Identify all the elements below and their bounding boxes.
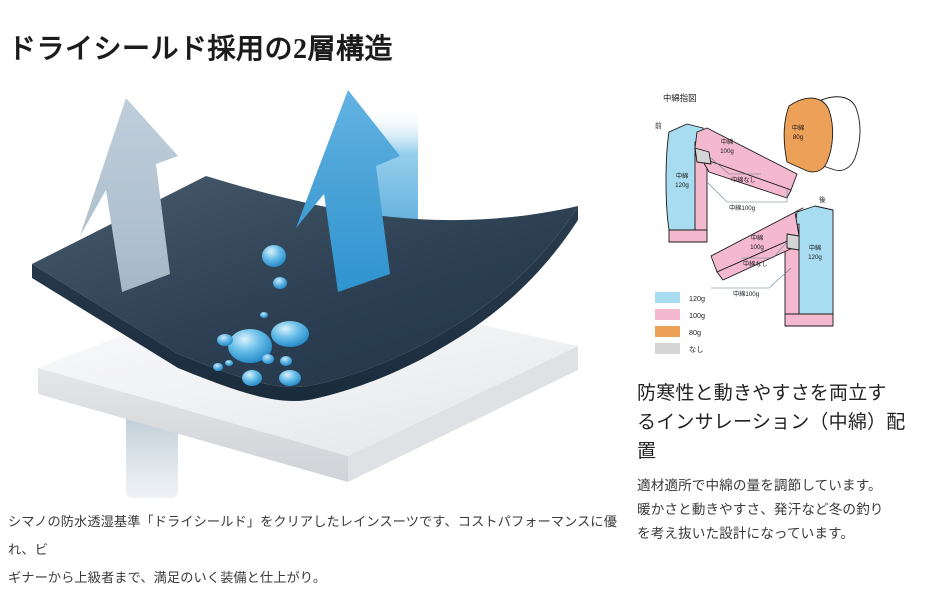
legend-swatch-0: [655, 292, 680, 303]
legend-swatch-2: [655, 326, 680, 337]
hood-label-line-2: 80g: [793, 134, 804, 141]
front-sleeve-label-line-2: 100g: [720, 148, 734, 155]
droplet-s5: [262, 354, 274, 364]
front-sleeve-label-line-1: 中綿: [721, 138, 733, 146]
right-body-line-3: を考え抜いた設計になっています。: [637, 522, 921, 546]
back-view-garment: 中綿 120g 中綿 100g 中綿なし 中綿100g: [711, 206, 833, 326]
back-body-label-line-2: 120g: [808, 254, 822, 261]
back-callout-100g: 中綿100g: [733, 290, 760, 298]
back-body-label-line-1: 中綿: [809, 244, 821, 252]
back-view-label: 後: [819, 195, 826, 204]
droplet-s1: [260, 312, 268, 318]
diagram-legend: 120g 100g 80g なし: [655, 292, 705, 354]
front-view-label: 前: [655, 121, 662, 130]
right-heading-line-2: るインサレーション（中綿）配: [637, 408, 921, 437]
back-sleeve-label-line-2: 100g: [750, 244, 764, 251]
diagram-title: 中綿指図: [663, 93, 697, 103]
right-body-line-1: 適材適所で中綿の量を調節しています。: [637, 474, 921, 498]
right-heading-line-1: 防寒性と動きやすさを両立す: [637, 379, 921, 408]
membrane-illustration: [18, 78, 618, 498]
legend-label-1: 100g: [689, 311, 705, 320]
droplet-s4: [225, 360, 233, 366]
droplet-top: [262, 245, 286, 267]
right-panel-heading: 防寒性と動きやすさを両立す るインサレーション（中綿）配 置: [637, 379, 921, 466]
front-callout-100g: 中綿100g: [729, 204, 756, 212]
droplet-s2: [217, 334, 233, 346]
droplet-s7: [242, 370, 262, 386]
right-body-line-2: 暖かさと動きやすさ、発汗など冬の釣り: [637, 498, 921, 522]
right-heading-line-3: 置: [637, 437, 921, 466]
back-callout-none: 中綿なし: [743, 260, 768, 268]
droplet-mid: [273, 277, 287, 289]
hood-label-line-1: 中綿: [792, 124, 804, 132]
legend-label-2: 80g: [689, 328, 701, 337]
right-column: .jp { font-family: "Liberation Sans","De…: [637, 82, 921, 546]
hood-piece: 中綿 80g: [784, 97, 860, 172]
droplet-s6: [280, 356, 292, 366]
back-sleeve-label-line-1: 中綿: [751, 234, 763, 242]
legend-swatch-3: [655, 343, 680, 354]
legend-label-0: 120g: [689, 294, 705, 303]
left-caption: シマノの防水透湿基準「ドライシールド」をクリアしたレインスーツです、コストパフォ…: [8, 508, 622, 592]
right-panel-body: 適材適所で中綿の量を調節しています。 暖かさと動きやすさ、発汗など冬の釣り を考…: [637, 474, 921, 546]
page-title: ドライシールド採用の2層構造: [8, 33, 393, 67]
front-body-label-line-1: 中綿: [676, 172, 688, 180]
front-callout-none: 中綿なし: [731, 176, 756, 184]
insulation-placement-diagram: .jp { font-family: "Liberation Sans","De…: [637, 82, 921, 367]
droplet-large-2: [271, 321, 309, 347]
droplet-s8: [279, 370, 301, 386]
left-caption-line-1: シマノの防水透湿基準「ドライシールド」をクリアしたレインスーツです、コストパフォ…: [8, 508, 622, 564]
front-body-label-line-2: 120g: [675, 182, 689, 189]
droplet-s3: [213, 363, 223, 371]
legend-label-3: なし: [689, 345, 703, 354]
left-caption-line-2: ギナーから上級者まで、満足のいく装備と仕上がり。: [8, 564, 622, 592]
legend-swatch-1: [655, 309, 680, 320]
